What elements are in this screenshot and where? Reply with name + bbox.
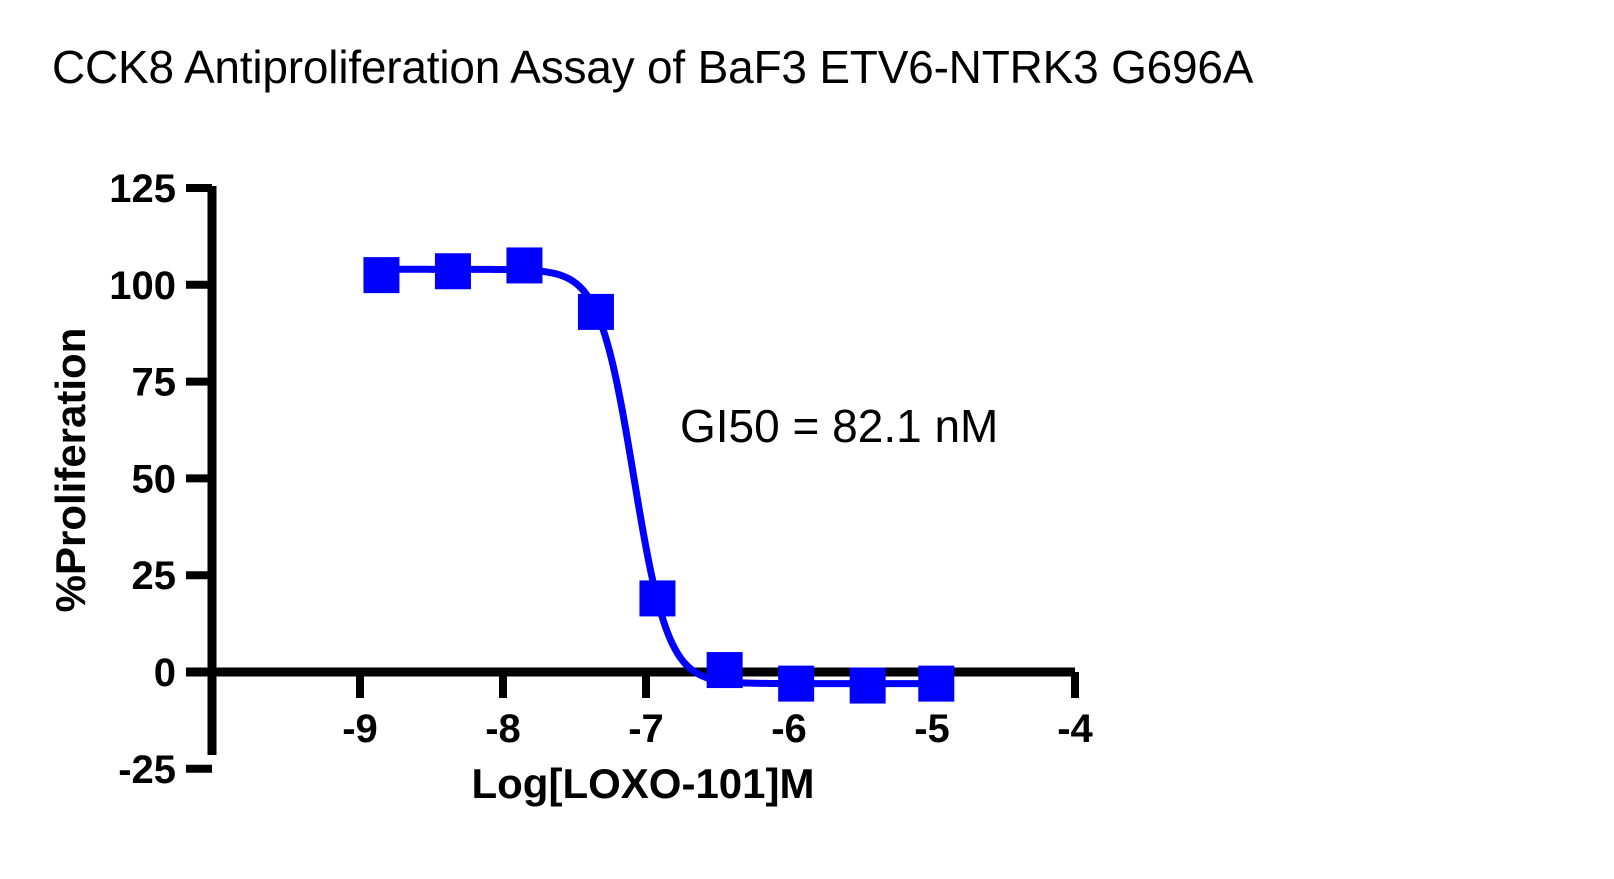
data-point-marker [435,253,471,289]
x-axis-tick-labels: -9-8-7-6-5-4 [342,707,1093,751]
data-point-marker [918,666,954,702]
y-axis-tick-label: 0 [154,651,176,695]
data-point-marker [639,580,675,616]
y-axis-title: %Proliferation [47,328,94,613]
chart-figure: CCK8 Antiproliferation Assay of BaF3 ETV… [0,0,1614,879]
data-point-marker [506,247,542,283]
data-point-marker [707,652,743,688]
data-point-marker [850,668,886,704]
y-axis-tick-label: 25 [132,554,177,598]
data-point-marker [578,294,614,330]
x-axis-tick-label: -6 [771,707,807,751]
y-axis-tick-label: 50 [132,457,177,501]
gi50-annotation: GI50 = 82.1 nM [680,400,998,452]
y-axis-tick-label: 125 [109,167,176,211]
dose-response-curve [381,269,936,683]
x-axis-title: Log[LOXO-101]M [472,760,815,807]
y-axis-tick-label: -25 [118,748,176,792]
data-point-marker [363,257,399,293]
x-axis-tick-label: -8 [485,707,521,751]
y-axis-tick-labels: -250255075100125 [109,167,176,792]
data-point-markers [363,247,954,703]
y-axis-tick-label: 75 [132,361,177,405]
x-axis-tick-label: -7 [628,707,664,751]
data-point-marker [778,666,814,702]
x-axis-tick-label: -5 [914,707,950,751]
plot-area: -250255075100125 -9-8-7-6-5-4 GI50 = 82.… [0,0,1614,879]
x-axis-tick-label: -4 [1057,707,1093,751]
x-axis-tick-label: -9 [342,707,378,751]
y-axis-tick-label: 100 [109,264,176,308]
